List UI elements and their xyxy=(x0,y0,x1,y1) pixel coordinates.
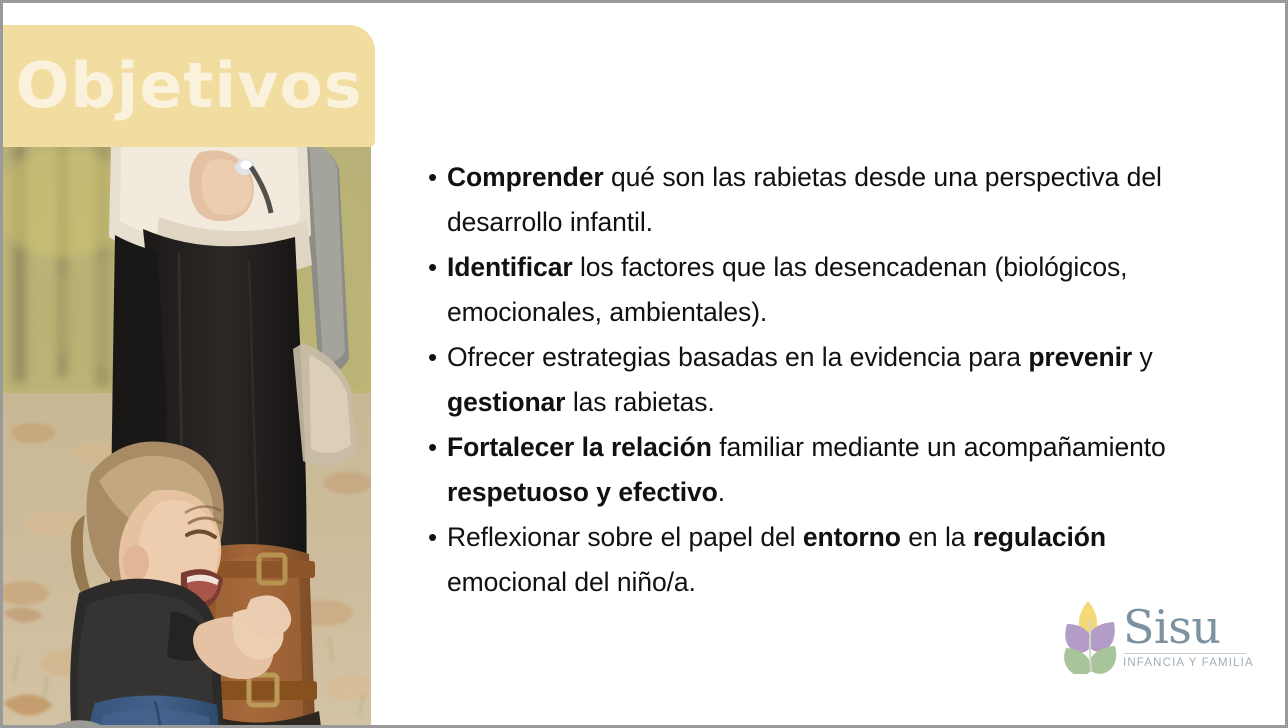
bullet-emphasis: respetuoso y efectivo xyxy=(447,477,718,507)
bullet-text: en la xyxy=(901,522,973,552)
photo-illustration xyxy=(3,143,371,728)
bullet-emphasis: gestionar xyxy=(447,387,565,417)
bullet-text: familiar mediante un acompañamiento xyxy=(712,432,1166,462)
bullet-ofrecer: Ofrecer estrategias basadas en la eviden… xyxy=(447,335,1223,425)
bullet-identificar: Identificar los factores que las desenca… xyxy=(447,245,1223,335)
logo-name: Sisu xyxy=(1123,603,1220,651)
slide: Objetivos • Comprender qué son las rabie… xyxy=(0,0,1288,728)
logo-wordmark: Sisu INFANCIA Y FAMILIA xyxy=(1123,603,1254,669)
bullet-emphasis: Fortalecer la relación xyxy=(447,432,712,462)
bullet-marker-icon: • xyxy=(423,425,447,470)
bullet-emphasis: entorno xyxy=(803,522,901,552)
sisu-leaf-icon xyxy=(1061,598,1121,674)
slide-photo xyxy=(3,143,371,728)
bullet-text: . xyxy=(718,477,725,507)
page-title: Objetivos xyxy=(15,55,362,117)
brand-logo: Sisu INFANCIA Y FAMILIA xyxy=(1061,595,1241,677)
bullet-emphasis: regulación xyxy=(973,522,1106,552)
bullet-marker-icon: • xyxy=(423,335,447,380)
bullet-emphasis: Comprender xyxy=(447,162,604,192)
bullet-text: y xyxy=(1132,342,1153,372)
objectives-list: • Comprender qué son las rabietas desde … xyxy=(423,155,1223,605)
bullet-emphasis: prevenir xyxy=(1028,342,1132,372)
bullet-emphasis: Identificar xyxy=(447,252,573,282)
title-banner: Objetivos xyxy=(0,25,375,147)
bullet-fortalecer: Fortalecer la relación familiar mediante… xyxy=(447,425,1223,515)
bullet-text: Ofrecer estrategias basadas en la eviden… xyxy=(447,342,1028,372)
list-item: • Reflexionar sobre el papel del entorno… xyxy=(423,515,1223,605)
bullet-marker-icon: • xyxy=(423,515,447,560)
logo-divider xyxy=(1124,653,1246,654)
bullet-text: emocional del niño/a. xyxy=(447,567,696,597)
bullet-text: Reflexionar sobre el papel del xyxy=(447,522,803,552)
bullet-text: las rabietas. xyxy=(565,387,714,417)
list-item: • Comprender qué son las rabietas desde … xyxy=(423,155,1223,245)
bullet-reflexionar: Reflexionar sobre el papel del entorno e… xyxy=(447,515,1223,605)
logo-tagline: INFANCIA Y FAMILIA xyxy=(1123,657,1254,669)
bullet-marker-icon: • xyxy=(423,155,447,200)
list-item: • Ofrecer estrategias basadas en la evid… xyxy=(423,335,1223,425)
list-item: • Fortalecer la relación familiar median… xyxy=(423,425,1223,515)
bullet-comprender: Comprender qué son las rabietas desde un… xyxy=(447,155,1223,245)
list-item: • Identificar los factores que las desen… xyxy=(423,245,1223,335)
bullet-marker-icon: • xyxy=(423,245,447,290)
